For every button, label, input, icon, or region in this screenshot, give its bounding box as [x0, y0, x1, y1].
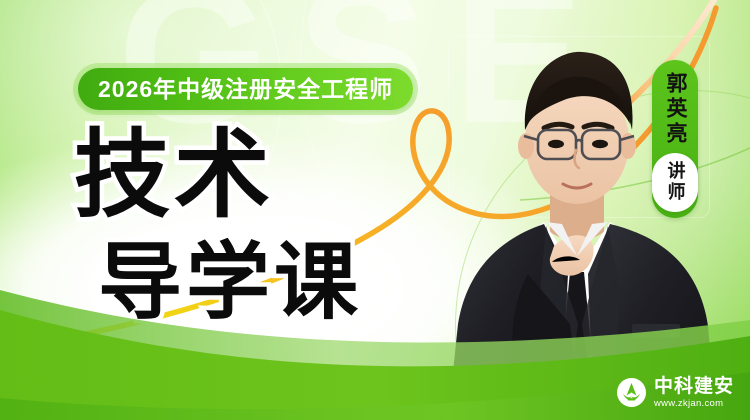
logo-company-name: 中科建安: [654, 377, 734, 396]
instructor-badge: 郭英亮 讲师: [652, 60, 698, 218]
instructor-role: 讲师: [666, 161, 685, 203]
course-poster: GSE: [0, 0, 750, 420]
instructor-role-pill: 讲师: [652, 153, 698, 212]
logo-website-url: www.zkjan.com: [654, 399, 734, 409]
instructor-name: 郭英亮: [664, 72, 686, 147]
circle-arrow-logo-icon: [616, 377, 647, 408]
title-line-1: 技术: [74, 128, 362, 224]
badge-label: 2026年中级注册安全工程师: [98, 78, 393, 101]
logo-text-block: 中科建安 www.zkjan.com: [654, 377, 734, 409]
course-badge: 2026年中级注册安全工程师: [78, 68, 413, 110]
brand-logo: 中科建安 www.zkjan.com: [616, 377, 734, 409]
